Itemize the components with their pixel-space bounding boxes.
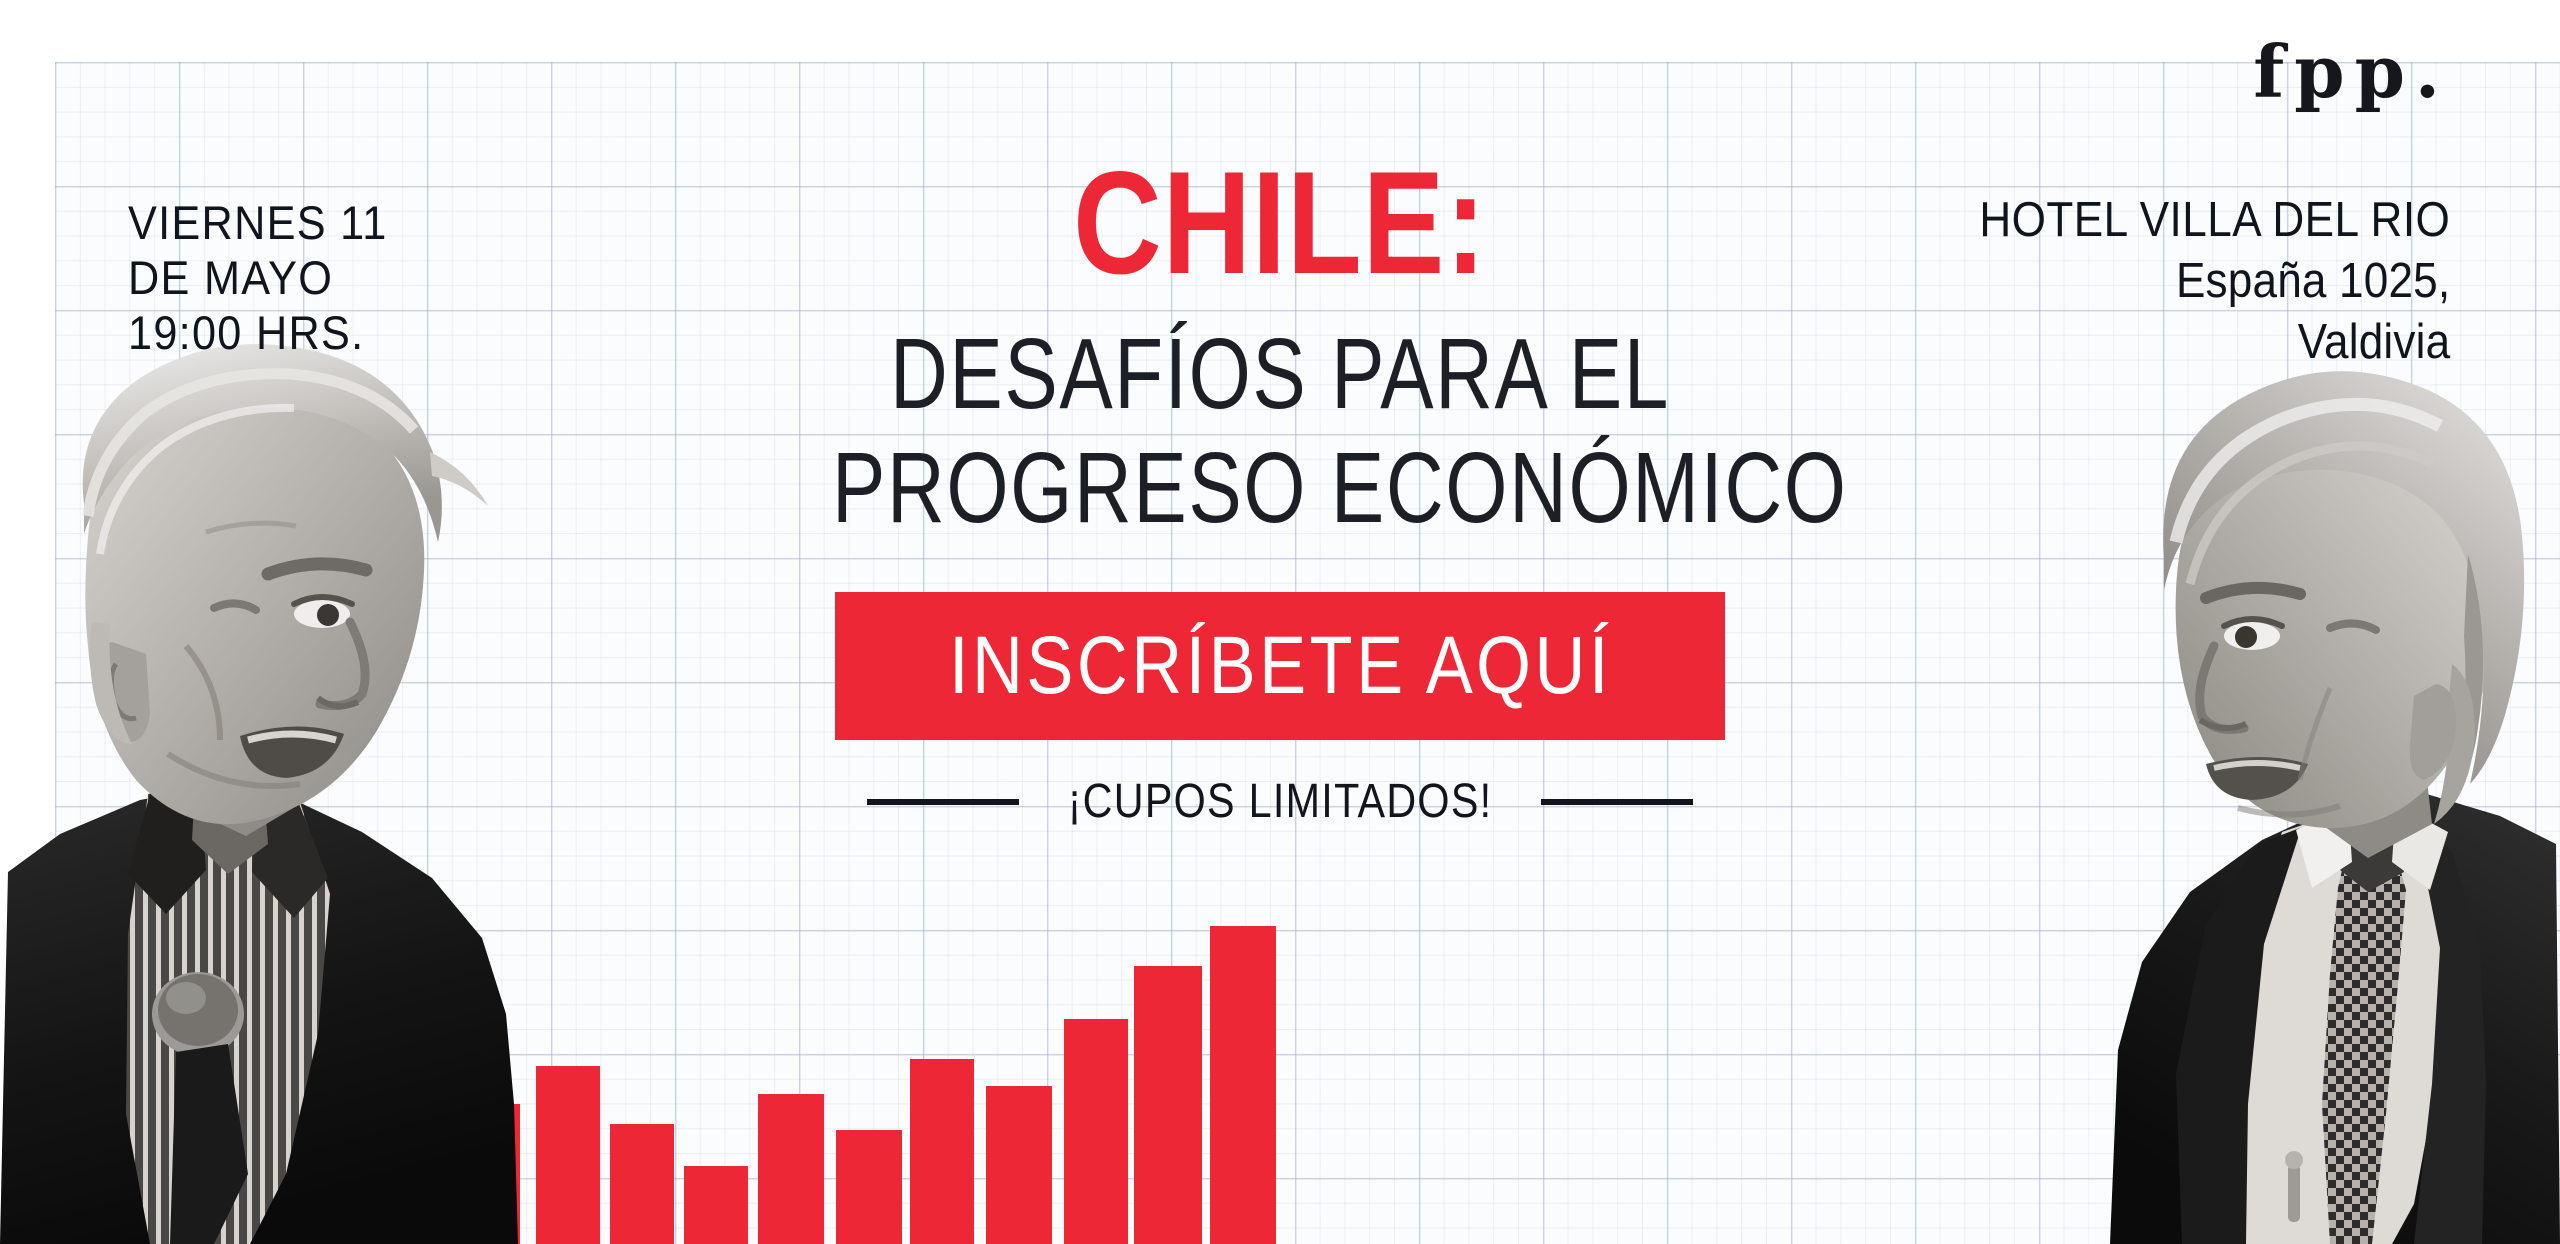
event-time-line: 19:00 HRS.: [128, 306, 388, 361]
rule-right: [1541, 799, 1693, 805]
event-poster: fpp. VIERNES 11 DE MAYO 19:00 HRS. HOTEL…: [0, 0, 2560, 1244]
venue-city: Valdivia: [1979, 314, 2450, 371]
subtitle-line-1: DESAFÍOS PARA EL: [890, 318, 1670, 430]
rule-left: [867, 799, 1019, 805]
limited-seats-notice: ¡CUPOS LIMITADOS!: [720, 774, 1840, 829]
event-date-line-2: DE MAYO: [128, 251, 388, 306]
venue-name: HOTEL VILLA DEL RIO: [1979, 192, 2450, 249]
poster-center-content: CHILE: DESAFÍOS PARA EL PROGRESO ECONÓMI…: [720, 150, 1840, 829]
page-title: CHILE:: [810, 150, 1751, 296]
brand-logo[interactable]: fpp.: [2253, 36, 2450, 108]
venue-address: España 1025,: [1979, 253, 2450, 310]
event-venue-block: HOTEL VILLA DEL RIO España 1025, Valdivi…: [1927, 192, 2450, 370]
subtitle-line-2: PROGRESO ECONÓMICO: [832, 432, 1728, 544]
page-subtitle: DESAFÍOS PARA EL PROGRESO ECONÓMICO: [832, 318, 1728, 544]
register-button-label: INSCRÍBETE AQUÍ: [949, 592, 1612, 740]
speaker-right-photo: [2000, 284, 2560, 1244]
limited-seats-label: ¡CUPOS LIMITADOS!: [1056, 774, 1505, 829]
speaker-left-photo: [0, 274, 530, 1244]
event-date-block: VIERNES 11 DE MAYO 19:00 HRS.: [128, 196, 410, 361]
register-button[interactable]: INSCRÍBETE AQUÍ: [835, 592, 1725, 740]
event-date-line-1: VIERNES 11: [128, 196, 388, 251]
